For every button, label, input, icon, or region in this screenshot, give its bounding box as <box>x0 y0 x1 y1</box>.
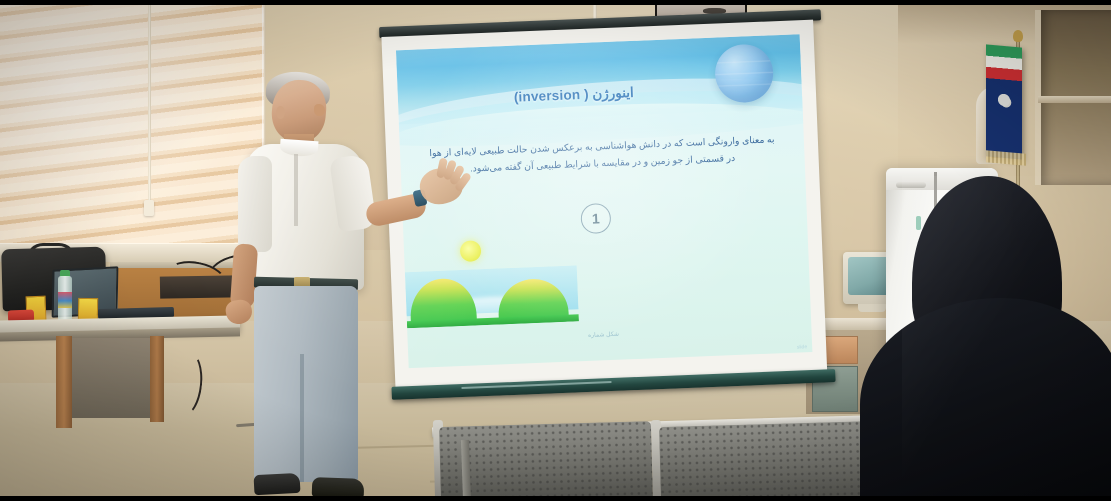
window-light-glow <box>0 0 264 245</box>
slide-number-badge: 1 <box>580 203 611 234</box>
attendee-highlight <box>902 176 1111 501</box>
photo-scene: اینورژن ( inversion) به معنای وارونگی اس… <box>0 0 1111 501</box>
iran-flag <box>986 44 1022 159</box>
slide-footer-caption: شکل شماره <box>503 327 703 342</box>
auditorium-chair-2[interactable] <box>659 421 873 501</box>
standing-lecturer <box>238 72 428 501</box>
niche-shelf <box>1038 96 1111 103</box>
desk-leg-left <box>56 336 72 428</box>
desk-leg-right <box>150 336 164 422</box>
lecturer-nose <box>314 104 325 116</box>
lecturer-shoe-left <box>254 473 301 495</box>
blind-cord[interactable] <box>148 0 151 210</box>
window-frame <box>0 0 264 258</box>
projected-slide: اینورژن ( inversion) به معنای وارونگی اس… <box>396 34 812 368</box>
seated-attendee <box>902 176 1111 501</box>
bar-highlight <box>462 381 612 389</box>
lecturer-shirt-placket <box>294 154 298 226</box>
trouser-seam <box>300 354 304 482</box>
flag-finial-icon <box>1013 30 1023 42</box>
hills-icon <box>405 265 579 328</box>
lecturer-ear <box>276 106 285 119</box>
crt-stand <box>858 304 886 312</box>
slide-credit: slide <box>797 344 808 350</box>
desk-modesty-panel <box>70 338 150 418</box>
blind-cord-weight[interactable] <box>144 200 154 216</box>
auditorium-chair-1[interactable] <box>439 421 653 501</box>
letterbox-top <box>0 0 1111 5</box>
bottle-label <box>58 292 72 308</box>
sun-icon <box>460 240 482 262</box>
pull-down-projection-screen: اینورژن ( inversion) به معنای وارونگی اس… <box>381 10 832 405</box>
lecturer-trousers <box>254 286 358 482</box>
flag-emblem-icon <box>994 89 1014 111</box>
lecturer-sleeve-left <box>238 156 272 252</box>
letterbox-bottom <box>0 496 1111 501</box>
